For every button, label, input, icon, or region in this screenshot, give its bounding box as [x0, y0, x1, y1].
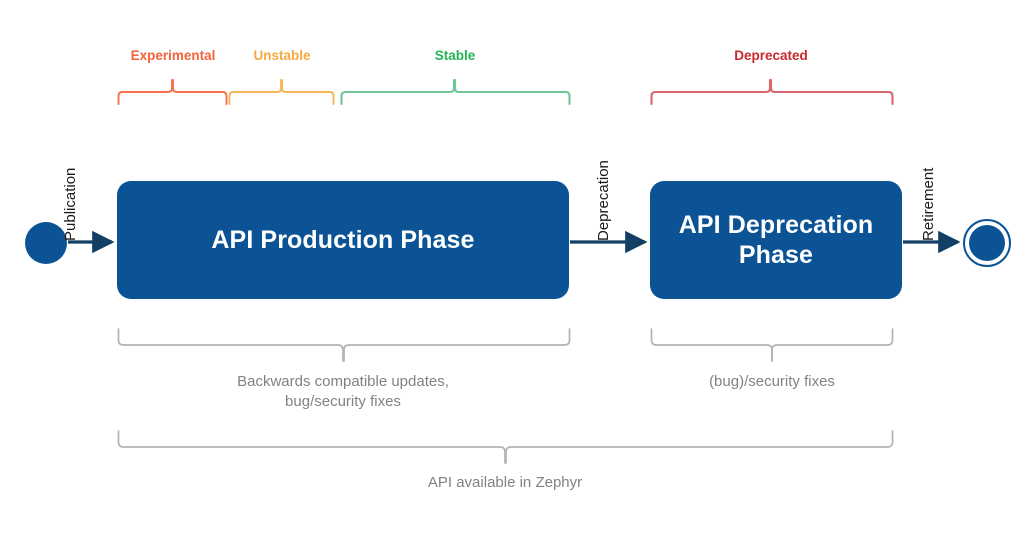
- brace-deprecation-support: [652, 329, 893, 361]
- brace-deprecated: [652, 80, 893, 104]
- api-lifecycle-diagram: API Production Phase API Deprecation Pha…: [0, 0, 1036, 537]
- phase-box-deprecation[interactable]: API Deprecation Phase: [650, 181, 902, 299]
- phase-box-deprecation-label: API Deprecation Phase: [679, 210, 874, 271]
- start-state-node[interactable]: [25, 222, 67, 264]
- phase-box-production[interactable]: API Production Phase: [117, 181, 569, 299]
- brace-stable: [342, 80, 570, 104]
- support-label-availability: API available in Zephyr: [355, 473, 655, 493]
- stability-label-unstable: Unstable: [231, 48, 333, 63]
- support-label-production: Backwards compatible updates, bug/securi…: [183, 372, 503, 413]
- brace-production-support: [119, 329, 570, 361]
- transition-label-publication: Publication: [62, 168, 79, 241]
- stability-label-stable: Stable: [405, 48, 505, 63]
- stability-label-experimental: Experimental: [113, 48, 233, 63]
- brace-availability: [119, 431, 893, 463]
- transition-label-retirement: Retirement: [920, 168, 937, 241]
- stability-label-deprecated: Deprecated: [711, 48, 831, 63]
- final-state-inner-circle: [969, 225, 1005, 261]
- brace-experimental: [119, 80, 227, 104]
- phase-box-production-label: API Production Phase: [211, 225, 474, 256]
- transition-label-deprecation: Deprecation: [595, 160, 612, 241]
- brace-unstable: [230, 80, 334, 104]
- final-state-node[interactable]: [963, 219, 1011, 267]
- support-label-deprecation: (bug)/security fixes: [662, 372, 882, 392]
